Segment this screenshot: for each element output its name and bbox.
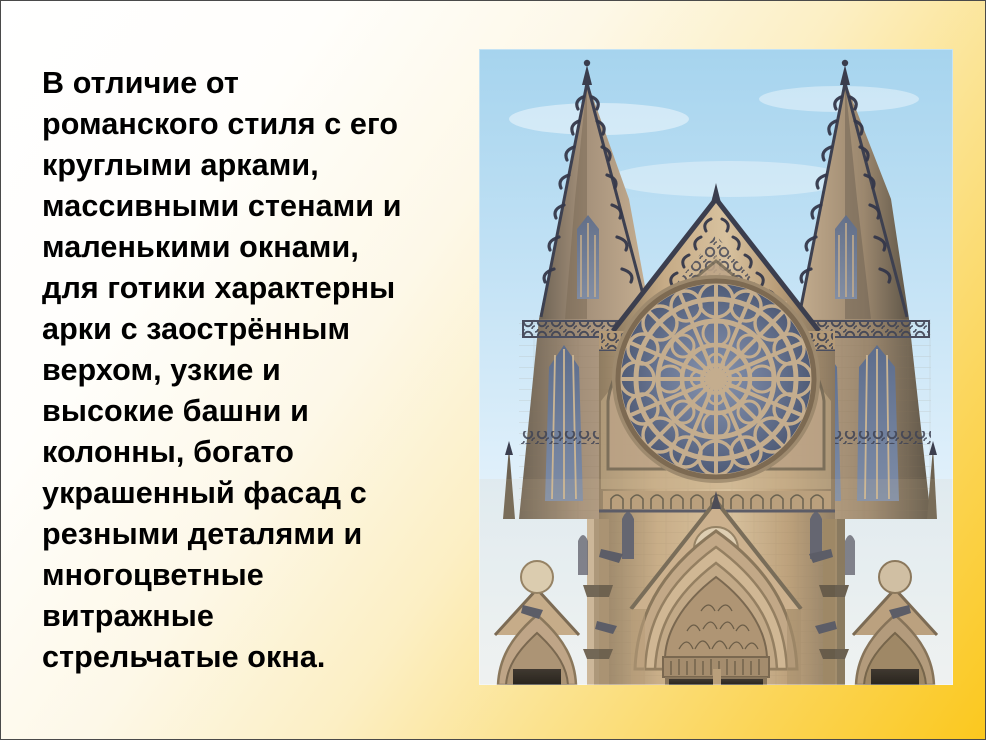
text-line: стрельчатые окна.	[42, 637, 442, 678]
text-line: для готики характерны	[42, 268, 442, 309]
text-line: украшенный фасад с	[42, 473, 442, 514]
body-text-block: В отличие от романского стиля с его круг…	[42, 63, 442, 678]
text-line: арки с заострённым	[42, 309, 442, 350]
text-line: резными деталями и	[42, 514, 442, 555]
text-line: витражные	[42, 596, 442, 637]
text-line: высокие башни и	[42, 391, 442, 432]
text-line: многоцветные	[42, 555, 442, 596]
text-line: верхом, узкие и	[42, 350, 442, 391]
text-line: круглыми арками,	[42, 145, 442, 186]
text-line: В отличие от	[42, 63, 442, 104]
text-line: романского стиля с его	[42, 104, 442, 145]
gothic-cathedral-facade-photo	[479, 49, 953, 685]
text-line: маленькими окнами,	[42, 227, 442, 268]
text-line: массивными стенами и	[42, 186, 442, 227]
text-line: колонны, богато	[42, 432, 442, 473]
presentation-slide: В отличие от романского стиля с его круг…	[0, 0, 986, 740]
